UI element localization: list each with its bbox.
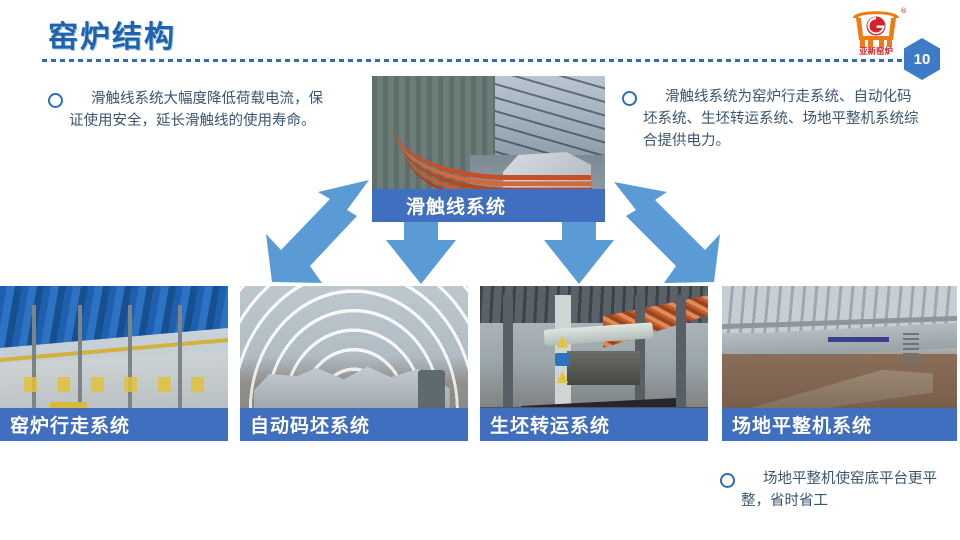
bullet-ring-icon [48,93,63,108]
bullet-right-text: 滑触线系统为窑炉行走系统、自动化码坯系统、生坯转运系统、场地平整机系统综合提供电… [643,86,922,152]
page-number-text: 10 [903,38,941,80]
bullet-left: 滑触线系统大幅度降低荷载电流，保证使用安全，延长滑触线的使用寿命。 [48,88,328,132]
photo-card-kiln-walking[interactable]: 窑炉行走系统 [0,286,228,441]
bullet-left-text: 滑触线系统大幅度降低荷载电流，保证使用安全，延长滑触线的使用寿命。 [69,88,328,132]
arrow-down-right-long [614,182,720,283]
svg-text:亚新窑炉: 亚新窑炉 [859,46,894,56]
photo-card-green-transfer[interactable]: 生坯转运系统 [480,286,708,441]
photo-card-site-leveling[interactable]: 场地平整机系统 [722,286,957,441]
card-caption: 窑炉行走系统 [0,408,228,441]
hero-photo-card[interactable]: 滑触线系统 [372,76,605,222]
hero-caption: 滑触线系统 [372,189,605,222]
bullet-ring-icon [622,91,637,106]
card-caption: 自动码坯系统 [240,408,468,441]
page-number-badge: 10 [903,38,941,80]
photo-card-auto-stacking[interactable]: 自动码坯系统 [240,286,468,441]
slide-canvas: 窑炉结构 ® 亚新窑炉 10 滑触线系统大幅度降低荷载电流，保证使用安全，延长滑… [0,0,960,540]
svg-text:®: ® [900,7,907,15]
header-divider [42,59,920,62]
arrow-down-left-long [266,180,369,283]
company-logo: ® 亚新窑炉 [845,4,907,56]
bullet-bottom-text: 场地平整机使窑底平台更平整，省时省工 [741,468,950,512]
bullet-ring-icon [720,473,735,488]
page-title: 窑炉结构 [48,12,176,56]
card-caption: 生坯转运系统 [480,408,708,441]
bullet-bottom: 场地平整机使窑底平台更平整，省时省工 [720,468,950,512]
card-caption: 场地平整机系统 [722,408,957,441]
bullet-right: 滑触线系统为窑炉行走系统、自动化码坯系统、生坯转运系统、场地平整机系统综合提供电… [622,86,922,152]
